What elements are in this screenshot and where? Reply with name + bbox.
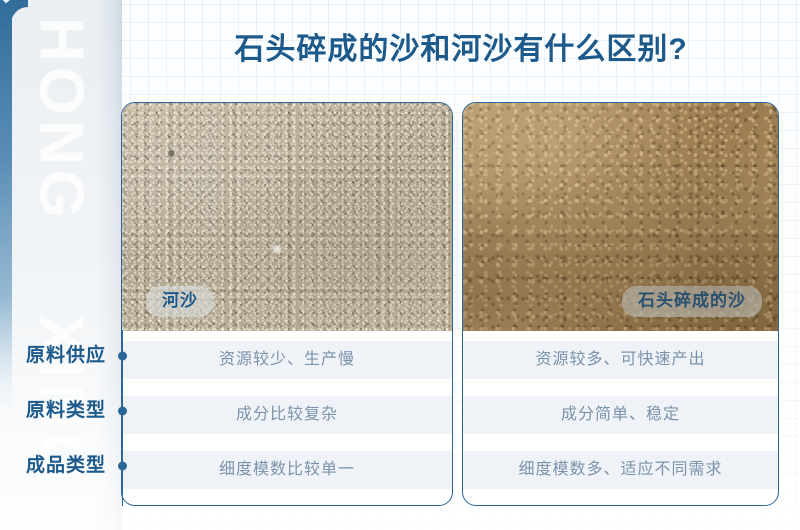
spec-value-cell: 细度模数多、适应不同需求 xyxy=(463,451,778,489)
row-label-product-type: 成品类型 xyxy=(26,455,122,477)
comparison-panel-crushed-stone-sand: 石头碎成的沙 资源较多、可快速产出 成分简单、稳定 细度模数多、适应不同需求 xyxy=(462,102,779,506)
row-label-raw-material-supply: 原料供应 xyxy=(26,345,122,367)
row-label-raw-material-type: 原料类型 xyxy=(26,400,122,422)
spec-value-cell: 资源较多、可快速产出 xyxy=(463,341,778,379)
crushed-stone-sand-photo: 石头碎成的沙 xyxy=(463,103,778,331)
infographic-stage: HONG XING 石头碎成的沙和河沙有什么区别? 河沙 资源较少、生产慢 成分… xyxy=(0,0,800,530)
photo-caption-crushed-stone-sand: 石头碎成的沙 xyxy=(622,286,762,317)
spec-rows-river-sand: 资源较少、生产慢 成分比较复杂 细度模数比较单一 xyxy=(122,331,452,489)
sidebar-accent-stripe xyxy=(0,0,12,414)
spec-value-cell: 资源较少、生产慢 xyxy=(122,341,452,379)
brand-sidebar: HONG XING xyxy=(0,0,122,530)
spec-value-cell: 成分简单、稳定 xyxy=(463,396,778,434)
sidebar-edge-shadow xyxy=(96,0,122,530)
comparison-panel-river-sand: 河沙 资源较少、生产慢 成分比较复杂 细度模数比较单一 xyxy=(121,102,453,506)
watermark-text-hong: HONG xyxy=(26,17,97,223)
river-sand-photo: 河沙 xyxy=(122,103,452,331)
page-title: 石头碎成的沙和河沙有什么区别? xyxy=(122,30,800,70)
spec-rows-crushed-stone-sand: 资源较多、可快速产出 成分简单、稳定 细度模数多、适应不同需求 xyxy=(463,331,778,489)
spec-value-cell: 细度模数比较单一 xyxy=(122,451,452,489)
row-label-rail: 原料供应 原料类型 成品类型 xyxy=(122,330,123,506)
photo-caption-river-sand: 河沙 xyxy=(146,286,214,317)
spec-value-cell: 成分比较复杂 xyxy=(122,396,452,434)
